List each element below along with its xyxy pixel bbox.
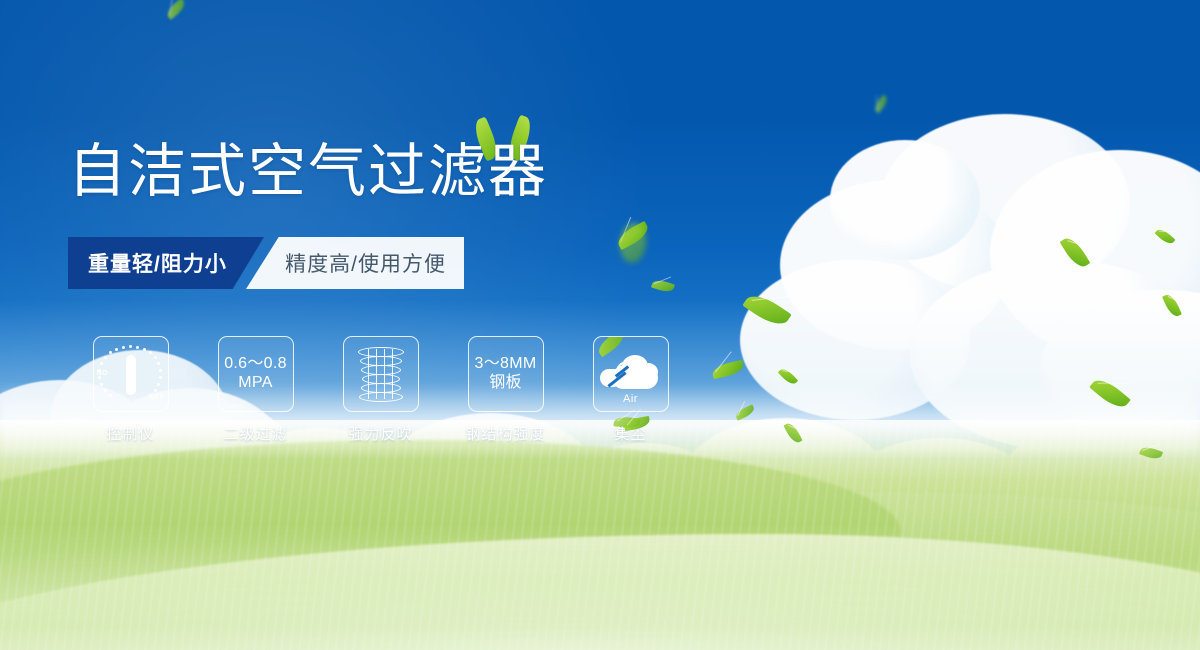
feature-strong-back-blow[interactable]: 强力反吹: [318, 336, 443, 444]
feature-steel-structure-strength[interactable]: 3～8MM 钢板 钢结构强度: [443, 336, 568, 444]
feature-icon-box: [343, 336, 419, 412]
promo-banner: 自洁式空气过滤器 重量轻/阻力小 精度高/使用方便: [0, 0, 1200, 650]
steel-line-1: 3～8MM: [475, 355, 537, 374]
feature-caption: 控制仪: [106, 423, 154, 444]
feature-icon-box: NO OFF: [93, 336, 169, 412]
pressure-line-1: 0.6～0.8: [224, 355, 287, 374]
dial-label-off: OFF: [149, 394, 165, 401]
subtitle-right-text: 精度高/使用方便: [285, 248, 446, 278]
feature-caption: 钢结构强度: [465, 423, 545, 444]
pressure-text-icon: 0.6～0.8 MPA: [224, 355, 287, 393]
filter-stack-icon: [355, 345, 407, 403]
page-title: 自洁式空气过滤器: [68, 143, 548, 201]
feature-icon-box: 0.6～0.8 MPA: [218, 336, 294, 412]
feature-dust-collection[interactable]: Air 集尘: [568, 336, 693, 444]
feature-list: NO OFF 控制仪 0.6～0.8 MPA 二级过滤: [68, 336, 693, 444]
steel-plate-text-icon: 3～8MM 钢板: [475, 355, 537, 393]
subtitle-left-panel: 重量轻/阻力小: [68, 237, 264, 289]
feature-control-instrument[interactable]: NO OFF 控制仪: [68, 336, 193, 444]
pressure-line-2: MPA: [224, 374, 287, 393]
feature-icon-box: 3～8MM 钢板: [468, 336, 544, 412]
subtitle-left-text: 重量轻/阻力小: [88, 248, 227, 278]
feature-caption: 二级过滤: [223, 423, 287, 444]
air-cloud-icon: Air: [600, 347, 662, 401]
feature-caption: 强力反吹: [348, 423, 412, 444]
feature-icon-box: Air: [593, 336, 669, 412]
air-label: Air: [600, 393, 662, 405]
banner-content: 自洁式空气过滤器 重量轻/阻力小 精度高/使用方便: [0, 0, 1200, 650]
dial-label-on: NO: [97, 370, 109, 377]
dial-gauge-icon: NO OFF: [98, 343, 164, 405]
steel-line-2: 钢板: [475, 374, 537, 393]
subtitle-right-panel: 精度高/使用方便: [246, 237, 464, 289]
feature-caption: 集尘: [614, 423, 646, 444]
subtitle-bar: 重量轻/阻力小 精度高/使用方便: [68, 237, 464, 289]
feature-two-stage-filtration[interactable]: 0.6～0.8 MPA 二级过滤: [193, 336, 318, 444]
